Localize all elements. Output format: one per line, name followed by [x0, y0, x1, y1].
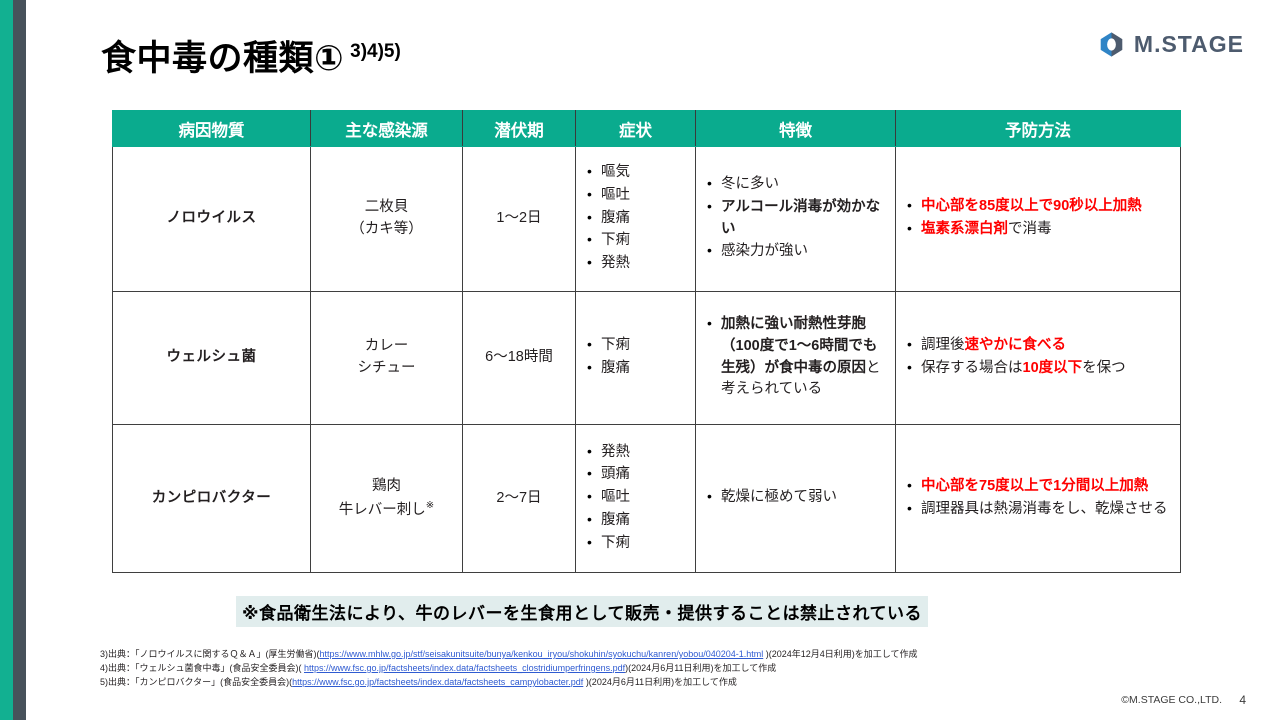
table-row: カンピロバクター 鶏肉 牛レバー刺し※ 2～7日 発熱 頭痛 嘔吐 腹痛 下痢: [113, 425, 1181, 573]
mstage-logo-icon: [1098, 31, 1125, 58]
list-item: 中心部を85度以上で90秒以上加熱: [921, 196, 1172, 218]
feature-list: 冬に多い アルコール消毒が効かない 感染力が強い: [704, 174, 887, 263]
source-line: （カキ等）: [319, 219, 454, 241]
reference-suffix: )(2024月6月11日利用)を加工して作成: [583, 677, 737, 687]
prevention-text: 保存する場合は: [921, 360, 1023, 376]
reference-prefix: 4)出典：「ウェルシュ菌食中毒」(食品安全委員会)(: [100, 663, 304, 673]
reference-item: 3)出典：「ノロウイルスに関するＱ＆Ａ」(厚生労働省)(https://www.…: [100, 648, 918, 662]
reference-suffix: )(2024年12月4日利用)を加工して作成: [763, 649, 917, 659]
prevention-list: 中心部を75度以上で1分間以上加熱 調理器具は熱湯消毒をし、乾燥させる: [904, 476, 1172, 521]
list-item: 腹痛: [601, 510, 687, 532]
symptom-list: 嘔気 嘔吐 腹痛 下痢 発熱: [584, 162, 687, 275]
cell-incubation: 1～2日: [463, 147, 576, 292]
feature-list: 乾燥に極めて弱い: [704, 487, 887, 509]
list-item: 加熱に強い耐熱性芽胞（100度で1～6時間でも生残）が食中毒の原因と考えられてい…: [721, 314, 887, 401]
prevention-text: で消毒: [1008, 221, 1052, 237]
feature-text-bold: 加熱に強い耐熱性芽胞（100度で1～6時間でも生残）が食中毒の原因: [721, 316, 877, 376]
symptom-list: 下痢 腹痛: [584, 335, 687, 380]
list-item: 冬に多い: [721, 174, 887, 196]
cell-features: 冬に多い アルコール消毒が効かない 感染力が強い: [696, 147, 896, 292]
table-row: ウェルシュ菌 カレー シチュー 6～18時間 下痢 腹痛 加熱に強い耐熱性芽胞（…: [113, 292, 1181, 425]
source-line: シチュー: [319, 358, 454, 380]
column-header-prevention: 予防方法: [896, 111, 1181, 147]
reference-link[interactable]: https://www.mhlw.go.jp/stf/seisakunitsui…: [320, 649, 764, 659]
list-item: 感染力が強い: [721, 241, 887, 263]
prevention-text: を保つ: [1082, 360, 1126, 376]
column-header-features: 特徴: [696, 111, 896, 147]
prevention-list: 中心部を85度以上で90秒以上加熱 塩素系漂白剤で消毒: [904, 196, 1172, 241]
list-item: 調理後速やかに食べる: [921, 335, 1172, 357]
table-header-row: 病因物質 主な感染源 潜伏期 症状 特徴 予防方法: [113, 111, 1181, 147]
prevention-text-highlight: 中心部を85度以上で90秒以上加熱: [921, 198, 1142, 214]
cell-pathogen: ウェルシュ菌: [113, 292, 311, 425]
prevention-list: 調理後速やかに食べる 保存する場合は10度以下を保つ: [904, 335, 1172, 380]
cell-features: 加熱に強い耐熱性芽胞（100度で1～6時間でも生残）が食中毒の原因と考えられてい…: [696, 292, 896, 425]
prevention-text-highlight: 速やかに食べる: [965, 337, 1067, 353]
feature-text: 感染力が強い: [721, 243, 808, 259]
list-item: 嘔吐: [601, 487, 687, 509]
page-title-superscript: 3)4)5): [350, 41, 401, 62]
list-item: 下痢: [601, 335, 687, 357]
reference-item: 5)出典：「カンピロバクター」(食品安全委員会)(https://www.fsc…: [100, 676, 918, 690]
cell-symptoms: 嘔気 嘔吐 腹痛 下痢 発熱: [576, 147, 696, 292]
cell-symptoms: 下痢 腹痛: [576, 292, 696, 425]
slide-canvas: 食中毒の種類①3)4)5) M.STAGE 病因物質 主な感染源 潜伏期 症状 …: [0, 0, 1280, 720]
list-item: 塩素系漂白剤で消毒: [921, 219, 1172, 241]
source-line: 牛レバー刺し※: [319, 498, 454, 522]
footnote-banner: ※食品衛生法により、牛のレバーを生食用として販売・提供することは禁止されている: [236, 596, 928, 627]
list-item: 調理器具は熱湯消毒をし、乾燥させる: [921, 499, 1172, 521]
food-poisoning-table: 病因物質 主な感染源 潜伏期 症状 特徴 予防方法 ノロウイルス 二枚貝 （カキ…: [112, 110, 1181, 573]
reference-suffix: )(2024月6月11日利用)を加工して作成: [625, 663, 776, 673]
source-text: 牛レバー刺し: [339, 501, 426, 517]
source-footnote-mark: ※: [426, 500, 434, 511]
page-title: 食中毒の種類①3)4)5): [101, 30, 401, 81]
left-accent-bar-teal: [0, 0, 13, 720]
cell-pathogen: カンピロバクター: [113, 425, 311, 573]
list-item: 保存する場合は10度以下を保つ: [921, 358, 1172, 380]
feature-text: 乾燥に極めて弱い: [721, 489, 837, 505]
column-header-incubation: 潜伏期: [463, 111, 576, 147]
feature-text-bold: アルコール消毒が効かない: [721, 199, 880, 237]
cell-incubation: 6～18時間: [463, 292, 576, 425]
table-row: ノロウイルス 二枚貝 （カキ等） 1～2日 嘔気 嘔吐 腹痛 下痢 発熱: [113, 147, 1181, 292]
feature-list: 加熱に強い耐熱性芽胞（100度で1～6時間でも生残）が食中毒の原因と考えられてい…: [704, 314, 887, 401]
page-number: 4: [1239, 693, 1246, 707]
page-title-text: 食中毒の種類①: [101, 39, 344, 78]
list-item: 乾燥に極めて弱い: [721, 487, 887, 509]
cell-features: 乾燥に極めて弱い: [696, 425, 896, 573]
cell-pathogen: ノロウイルス: [113, 147, 311, 292]
list-item: 頭痛: [601, 464, 687, 486]
column-header-symptoms: 症状: [576, 111, 696, 147]
prevention-text-highlight: 中心部を75度以上で1分間以上加熱: [921, 478, 1148, 494]
copyright-text: ©M.STAGE CO.,LTD.: [1121, 694, 1222, 706]
prevention-text-highlight: 10度以下: [1023, 360, 1083, 376]
cell-incubation: 2～7日: [463, 425, 576, 573]
prevention-text-highlight: 塩素系漂白剤: [921, 221, 1008, 237]
source-line: カレー: [319, 336, 454, 358]
cell-symptoms: 発熱 頭痛 嘔吐 腹痛 下痢: [576, 425, 696, 573]
list-item: 中心部を75度以上で1分間以上加熱: [921, 476, 1172, 498]
list-item: 嘔気: [601, 162, 687, 184]
cell-source: 二枚貝 （カキ等）: [311, 147, 463, 292]
list-item: 発熱: [601, 253, 687, 275]
list-item: 腹痛: [601, 358, 687, 380]
reference-item: 4)出典：「ウェルシュ菌食中毒」(食品安全委員会)( https://www.f…: [100, 662, 918, 676]
source-line: 鶏肉: [319, 476, 454, 498]
reference-list: 3)出典：「ノロウイルスに関するＱ＆Ａ」(厚生労働省)(https://www.…: [100, 648, 918, 690]
list-item: 発熱: [601, 442, 687, 464]
brand-logo-text: M.STAGE: [1134, 31, 1244, 58]
list-item: 腹痛: [601, 208, 687, 230]
list-item: 下痢: [601, 533, 687, 555]
list-item: 下痢: [601, 230, 687, 252]
left-accent-bar-slate: [13, 0, 26, 720]
feature-text: 冬に多い: [721, 176, 779, 192]
list-item: 嘔吐: [601, 185, 687, 207]
prevention-text: 調理器具は熱湯消毒をし、乾燥させる: [921, 501, 1168, 517]
reference-link[interactable]: https://www.fsc.go.jp/factsheets/index.d…: [304, 663, 625, 673]
reference-prefix: 3)出典：「ノロウイルスに関するＱ＆Ａ」(厚生労働省)(: [100, 649, 320, 659]
brand-logo: M.STAGE: [1098, 31, 1244, 58]
list-item: アルコール消毒が効かない: [721, 197, 887, 241]
cell-source: 鶏肉 牛レバー刺し※: [311, 425, 463, 573]
cell-prevention: 中心部を75度以上で1分間以上加熱 調理器具は熱湯消毒をし、乾燥させる: [896, 425, 1181, 573]
source-line: 二枚貝: [319, 197, 454, 219]
reference-prefix: 5)出典：「カンピロバクター」(食品安全委員会)(: [100, 677, 292, 687]
column-header-pathogen: 病因物質: [113, 111, 311, 147]
cell-prevention: 調理後速やかに食べる 保存する場合は10度以下を保つ: [896, 292, 1181, 425]
symptom-list: 発熱 頭痛 嘔吐 腹痛 下痢: [584, 442, 687, 555]
cell-prevention: 中心部を85度以上で90秒以上加熱 塩素系漂白剤で消毒: [896, 147, 1181, 292]
column-header-source: 主な感染源: [311, 111, 463, 147]
reference-link[interactable]: https://www.fsc.go.jp/factsheets/index.d…: [292, 677, 583, 687]
prevention-text: 調理後: [921, 337, 965, 353]
cell-source: カレー シチュー: [311, 292, 463, 425]
